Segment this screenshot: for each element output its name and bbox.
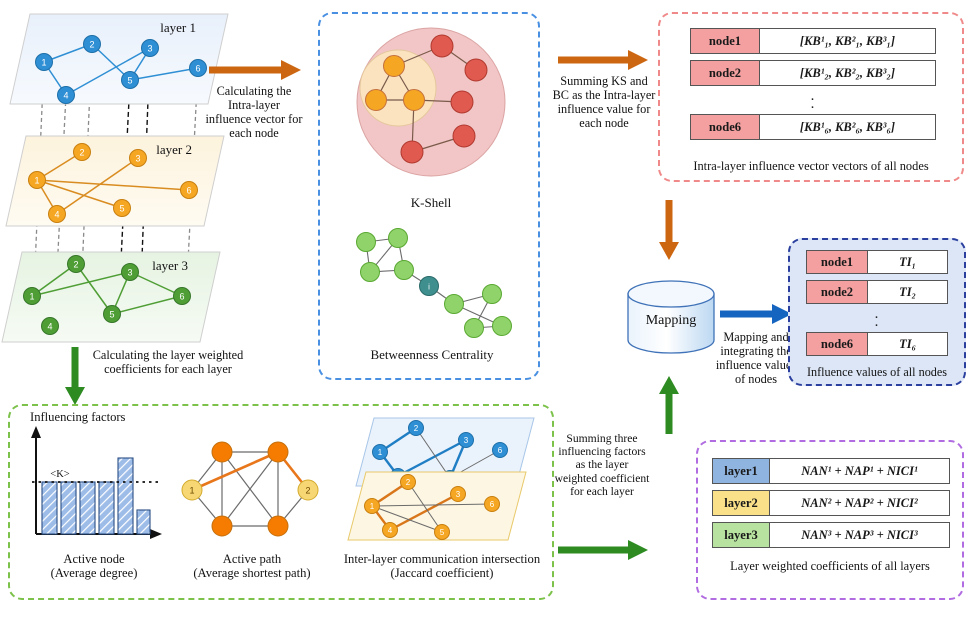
arrow-to-mapping xyxy=(656,198,682,262)
arrow-label-to-factors: Calculating the layer weighted coefficie… xyxy=(88,348,248,376)
svg-text:6: 6 xyxy=(195,63,200,73)
svg-text:3: 3 xyxy=(456,490,461,499)
kshell-diagram xyxy=(336,22,526,192)
influence-node-label: node1 xyxy=(806,250,868,274)
intra-layer-table: node1 [KB¹₁, KB²₁, KB³₁] node2 [KB¹₂, KB… xyxy=(690,28,936,146)
arrow-to-influence-table xyxy=(718,302,794,326)
influence-node-value: TI₂ xyxy=(868,280,948,304)
svg-text:4: 4 xyxy=(54,209,59,219)
layer-value: NAN² + NAP² + NICI² xyxy=(770,490,950,516)
layer-coefficients-caption: Layer weighted coefficients of all layer… xyxy=(698,560,962,574)
active-path-graph: 1 2 xyxy=(178,432,324,546)
influence-node-label: node2 xyxy=(806,280,868,304)
intra-node-label: node2 xyxy=(690,60,760,86)
svg-text:4: 4 xyxy=(388,526,393,535)
active-node-caption: Active node (Average degree) xyxy=(14,552,174,580)
ellipsis: ... xyxy=(690,92,936,108)
svg-text:3: 3 xyxy=(127,267,132,277)
svg-text:6: 6 xyxy=(490,500,495,509)
svg-text:2: 2 xyxy=(414,424,419,433)
table-row: node6 TI₆ xyxy=(806,332,948,356)
svg-text:2: 2 xyxy=(73,259,78,269)
influence-node-value: TI₁ xyxy=(868,250,948,274)
active-path-caption: Active path (Average shortest path) xyxy=(172,552,332,580)
table-row: node1 [KB¹₁, KB²₁, KB³₁] xyxy=(690,28,936,54)
influence-node-value: TI₆ xyxy=(868,332,948,356)
intra-node-value: [KB¹₆, KB²₆, KB³₆] xyxy=(760,114,936,140)
layer-label: layer1 xyxy=(712,458,770,484)
svg-text:2: 2 xyxy=(406,478,411,487)
svg-text:layer 2: layer 2 xyxy=(156,142,192,157)
svg-text:3: 3 xyxy=(464,436,469,445)
layer-label: layer3 xyxy=(712,522,770,548)
svg-text:i: i xyxy=(428,283,430,292)
svg-text:6: 6 xyxy=(498,446,503,455)
intra-node-value: [KB¹₁, KB²₁, KB³₁] xyxy=(760,28,936,54)
intra-node-value: [KB¹₂, KB²₂, KB³₂] xyxy=(760,60,936,86)
svg-text:2: 2 xyxy=(89,39,94,49)
intra-layer-caption: Intra-layer influence vector vectors of … xyxy=(660,160,962,174)
intra-node-label: node1 xyxy=(690,28,760,54)
influence-node-label: node6 xyxy=(806,332,868,356)
svg-text:layer 3: layer 3 xyxy=(152,258,188,273)
table-row: layer3 NAN³ + NAP³ + NICI³ xyxy=(712,522,950,548)
svg-text:6: 6 xyxy=(179,291,184,301)
table-row: node2 [KB¹₂, KB²₂, KB³₂] xyxy=(690,60,936,86)
svg-text:1: 1 xyxy=(378,448,383,457)
svg-text:layer 1: layer 1 xyxy=(160,20,196,35)
arrow-to-intra-table xyxy=(556,48,652,72)
svg-text:3: 3 xyxy=(135,153,140,163)
svg-text:2: 2 xyxy=(79,147,84,157)
svg-text:5: 5 xyxy=(127,75,132,85)
ellipsis: ... xyxy=(806,310,948,326)
layer-coefficients-table: layer1 NAN¹ + NAP¹ + NICI¹ layer2 NAN² +… xyxy=(712,458,950,554)
multilayer-network: 1 2 3 4 5 6 layer 1 1 2 3 4 5 6 layer 2 xyxy=(0,0,250,355)
svg-text:2: 2 xyxy=(305,485,310,495)
svg-text:Mapping: Mapping xyxy=(646,313,697,328)
intra-node-label: node6 xyxy=(690,114,760,140)
svg-text:5: 5 xyxy=(109,309,114,319)
layer-value: NAN¹ + NAP¹ + NICI¹ xyxy=(770,458,950,484)
arrow-to-layer-table xyxy=(556,538,652,562)
svg-text:1: 1 xyxy=(34,175,39,185)
influence-values-table: node1 TI₁ node2 TI₂ ... node6 TI₆ xyxy=(806,250,948,362)
svg-text:<K>: <K> xyxy=(50,469,70,480)
svg-text:6: 6 xyxy=(186,185,191,195)
arrow-to-kshell xyxy=(205,57,305,83)
layer-value: NAN³ + NAP³ + NICI³ xyxy=(770,522,950,548)
kshell-caption: K-Shell xyxy=(336,196,526,211)
table-row: node6 [KB¹₆, KB²₆, KB³₆] xyxy=(690,114,936,140)
table-row: node2 TI₂ xyxy=(806,280,948,304)
table-row: node1 TI₁ xyxy=(806,250,948,274)
influence-values-caption: Influence values of all nodes xyxy=(790,366,964,380)
mapping-cylinder: Mapping xyxy=(622,280,720,356)
arrow-to-mapping-from-layers xyxy=(656,372,682,436)
arrow-label-to-layer-table: Summing three influencing factors as the… xyxy=(554,432,650,498)
svg-text:4: 4 xyxy=(47,321,52,331)
active-node-bar-chart: <K> xyxy=(20,424,170,546)
table-row: layer2 NAN² + NAP² + NICI² xyxy=(712,490,950,516)
svg-text:1: 1 xyxy=(29,291,34,301)
table-row: layer1 NAN¹ + NAP¹ + NICI¹ xyxy=(712,458,950,484)
svg-text:1: 1 xyxy=(370,502,375,511)
svg-text:1: 1 xyxy=(41,57,46,67)
svg-text:1: 1 xyxy=(189,485,194,495)
factors-chart-title: Influencing factors xyxy=(30,410,180,424)
layer-label: layer2 xyxy=(712,490,770,516)
svg-text:5: 5 xyxy=(119,203,124,213)
arrow-to-factors xyxy=(62,345,88,407)
betweenness-caption: Betweenness Centrality xyxy=(334,348,530,363)
interlayer-intersection-graph: 1 2 3 4 5 6 1 2 3 4 5 6 xyxy=(338,414,548,550)
arrow-label-to-kshell: Calculating the Intra-layer influence ve… xyxy=(204,84,304,140)
svg-text:4: 4 xyxy=(63,90,68,100)
betweenness-diagram: i xyxy=(338,224,528,344)
svg-text:5: 5 xyxy=(440,528,445,537)
arrow-label-to-intra-table: Summing KS and BC as the Intra-layer inf… xyxy=(552,74,656,130)
svg-text:3: 3 xyxy=(147,43,152,53)
interlayer-caption: Inter-layer communication intersection (… xyxy=(330,552,554,580)
